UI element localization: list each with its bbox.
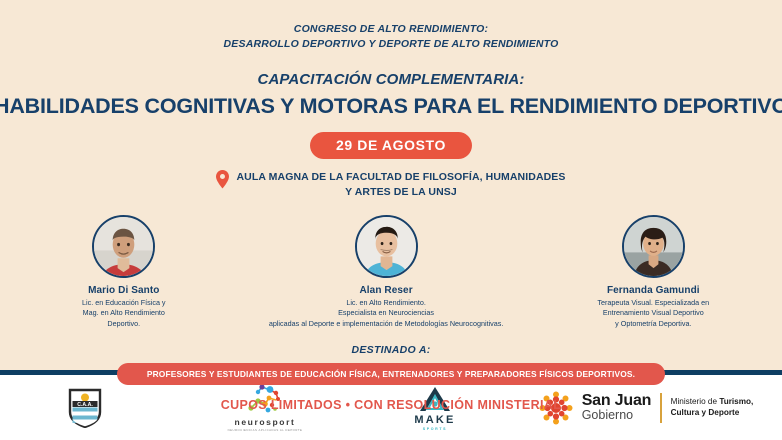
speaker-role: Lic. en Alto Rendimiento. Especialista e…	[269, 298, 504, 329]
venue-line-2: Y ARTES DE LA UNSJ	[345, 186, 457, 198]
ministry-line-1: Ministerio de Turismo,	[671, 397, 754, 408]
event-poster: CONGRESO DE ALTO RENDIMIENTO: DESARROLLO…	[0, 0, 782, 440]
avatar	[92, 215, 155, 278]
svg-text:C.A.A.: C.A.A.	[77, 402, 93, 408]
ministry-prefix: Ministerio de	[671, 397, 720, 406]
neurosport-tagline: NEUROCIENCIAS APLICADAS AL DEPORTE	[228, 428, 303, 432]
speaker-name: Mario Di Santo	[88, 285, 159, 296]
venue-address: AULA MAGNA DE LA FACULTAD DE FILOSOFÍA, …	[236, 170, 565, 198]
availability-note: CUPOS LIMITADOS • CON RESOLUCIÓN MINISTE…	[221, 398, 561, 412]
event-main-title: HABILIDADES COGNITIVAS Y MOTORAS PARA EL…	[0, 94, 782, 119]
event-subtitle: CAPACITACIÓN COMPLEMENTARIA:	[258, 71, 525, 88]
speaker-card: Fernanda Gamundi Terapeuta Visual. Espec…	[525, 215, 782, 329]
make-wordmark: MAKE	[414, 414, 455, 426]
speaker-role: Lic. en Educación Física y Mag. en Alto …	[82, 298, 166, 329]
gobierno-wordmark: Gobierno	[582, 409, 652, 422]
speaker-role-line: Terapeuta Visual. Especializada en	[597, 298, 709, 308]
speakers-row: Mario Di Santo Lic. en Educación Física …	[0, 215, 782, 329]
audience-badge: PROFESORES Y ESTUDIANTES DE EDUCACIÓN FÍ…	[117, 363, 665, 385]
speaker-card: Alan Reser Lic. en Alto Rendimiento. Esp…	[248, 215, 525, 329]
speaker-role-line: Entrenamiento Visual Deportivo	[597, 308, 709, 318]
speaker-role-line: Mag. en Alto Rendimiento	[82, 308, 166, 318]
speaker-role-line: aplicadas al Deporte e implementación de…	[269, 319, 504, 329]
kicker-line-1: CONGRESO DE ALTO RENDIMIENTO:	[224, 22, 559, 37]
speaker-card: Mario Di Santo Lic. en Educación Física …	[0, 215, 248, 329]
event-venue: AULA MAGNA DE LA FACULTAD DE FILOSOFÍA, …	[216, 170, 565, 198]
ministry-area-2: Cultura y Deporte	[671, 408, 740, 417]
audience-label: DESTINADO A:	[351, 344, 430, 356]
event-date-badge: 29 DE AGOSTO	[310, 132, 472, 159]
ministry-text: Ministerio de Turismo, Cultura y Deporte	[671, 397, 754, 418]
speaker-role-line: Deportivo.	[82, 319, 166, 329]
speaker-role: Terapeuta Visual. Especializada en Entre…	[597, 298, 709, 329]
event-kicker: CONGRESO DE ALTO RENDIMIENTO: DESARROLLO…	[224, 22, 559, 52]
neurosport-wordmark: neurosport	[235, 417, 296, 427]
avatar	[622, 215, 685, 278]
ministry-area-1: Turismo,	[719, 397, 753, 406]
venue-line-1: AULA MAGNA DE LA FACULTAD DE FILOSOFÍA, …	[236, 171, 565, 183]
logo-divider	[660, 393, 661, 423]
poster-body: CONGRESO DE ALTO RENDIMIENTO: DESARROLLO…	[0, 0, 782, 370]
kicker-line-2: DESARROLLO DEPORTIVO Y DEPORTE DE ALTO R…	[224, 37, 559, 52]
location-pin-icon	[216, 170, 229, 188]
speaker-name: Alan Reser	[359, 285, 412, 296]
caa-shield-logo: C.A.A.	[0, 388, 170, 428]
speaker-name: Fernanda Gamundi	[607, 285, 700, 296]
speaker-role-line: y Optometría Deportiva.	[597, 319, 709, 329]
ministry-line-2: Cultura y Deporte	[671, 408, 754, 419]
make-tagline: SPORTS	[423, 427, 447, 431]
san-juan-wordmark: San Juan	[582, 393, 652, 409]
avatar	[355, 215, 418, 278]
speaker-role-line: Lic. en Educación Física y	[82, 298, 166, 308]
speaker-role-line: Especialista en Neurociencias	[269, 308, 504, 318]
speaker-role-line: Lic. en Alto Rendimiento.	[269, 298, 504, 308]
